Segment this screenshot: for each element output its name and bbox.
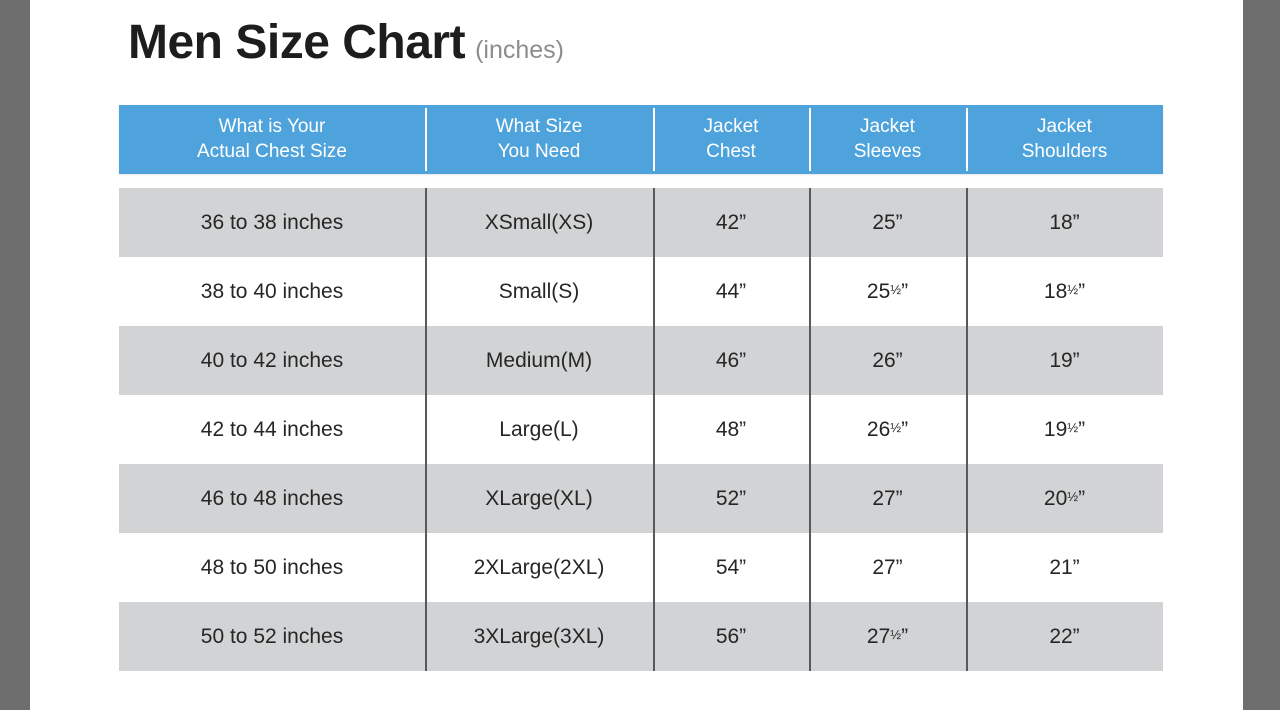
cell-size-you-need: 2XLarge(2XL) [425,533,653,602]
table-row: 36 to 38 inchesXSmall(XS)42”25”18” [119,188,1163,257]
cell-jacket-sleeves: 27” [809,464,966,533]
cell-value: 46 to 48 inches [201,487,343,511]
page-title: Men Size Chart (inches) [128,19,564,67]
cell-jacket-shoulders: 22” [966,602,1163,671]
cell-value: 40 to 42 inches [201,349,343,373]
cell-jacket-chest: 52” [653,464,809,533]
cell-size-you-need: Small(S) [425,257,653,326]
column-header-line2: Sleeves [854,140,922,164]
cell-value: 38 to 40 inches [201,280,343,304]
cell-jacket-shoulders: 19½” [966,395,1163,464]
cell-jacket-chest: 56” [653,602,809,671]
cell-value: 19” [1049,349,1079,373]
column-header-line2: Chest [706,140,756,164]
cell-value: Medium(M) [486,349,592,373]
cell-value: 18” [1049,211,1079,235]
cell-jacket-sleeves: 26” [809,326,966,395]
right-edge-band [1243,0,1280,710]
cell-jacket-sleeves: 27” [809,533,966,602]
column-header-line1: What is Your [219,115,326,139]
cell-size-you-need: XLarge(XL) [425,464,653,533]
half-fraction: ½ [890,627,901,642]
cell-jacket-chest: 46” [653,326,809,395]
table-row: 42 to 44 inchesLarge(L)48”26½”19½” [119,395,1163,464]
column-header-line1: Jacket [704,115,759,139]
cell-jacket-shoulders: 19” [966,326,1163,395]
size-chart-page: Men Size Chart (inches) What is Your Act… [0,0,1280,710]
cell-jacket-chest: 54” [653,533,809,602]
cell-jacket-shoulders: 20½” [966,464,1163,533]
cell-value: 36 to 38 inches [201,211,343,235]
cell-jacket-chest: 44” [653,257,809,326]
cell-value: 3XLarge(3XL) [474,625,605,649]
column-header-jacket-sleeves: Jacket Sleeves [809,105,966,174]
cell-jacket-sleeves: 25½” [809,257,966,326]
cell-value: Large(L) [499,418,578,442]
cell-value: 19½” [1044,418,1085,442]
column-header-size-you-need: What Size You Need [425,105,653,174]
column-header-line2: You Need [498,140,581,164]
table-row: 48 to 50 inches2XLarge(2XL)54”27”21” [119,533,1163,602]
cell-value: 27” [872,556,902,580]
table-row: 40 to 42 inchesMedium(M)46”26”19” [119,326,1163,395]
half-fraction: ½ [1067,420,1078,435]
cell-jacket-shoulders: 18” [966,188,1163,257]
cell-value: 52” [716,487,746,511]
cell-size-you-need: 3XLarge(3XL) [425,602,653,671]
cell-value: 44” [716,280,746,304]
cell-value: Small(S) [499,280,580,304]
cell-value: 25½” [867,280,908,304]
half-fraction: ½ [1067,282,1078,297]
cell-value: 26” [872,349,902,373]
size-chart-table: What is Your Actual Chest Size What Size… [119,105,1163,671]
cell-value: 27” [872,487,902,511]
column-header-line2: Actual Chest Size [197,140,347,164]
column-header-line1: Jacket [860,115,915,139]
cell-jacket-chest: 42” [653,188,809,257]
cell-jacket-shoulders: 21” [966,533,1163,602]
cell-actual-chest-size: 50 to 52 inches [119,602,425,671]
cell-actual-chest-size: 46 to 48 inches [119,464,425,533]
cell-value: 26½” [867,418,908,442]
cell-jacket-sleeves: 26½” [809,395,966,464]
cell-actual-chest-size: 40 to 42 inches [119,326,425,395]
table-row: 38 to 40 inchesSmall(S)44”25½”18½” [119,257,1163,326]
cell-value: 56” [716,625,746,649]
cell-jacket-shoulders: 18½” [966,257,1163,326]
left-edge-band [0,0,30,710]
chart-canvas: Men Size Chart (inches) What is Your Act… [30,0,1243,710]
column-header-line1: What Size [496,115,583,139]
cell-actual-chest-size: 38 to 40 inches [119,257,425,326]
cell-value: 20½” [1044,487,1085,511]
column-header-actual-chest-size: What is Your Actual Chest Size [119,105,425,174]
cell-value: 48 to 50 inches [201,556,343,580]
cell-value: XLarge(XL) [485,487,592,511]
cell-size-you-need: Medium(M) [425,326,653,395]
cell-value: 42” [716,211,746,235]
cell-value: 42 to 44 inches [201,418,343,442]
half-fraction: ½ [1067,489,1078,504]
cell-actual-chest-size: 42 to 44 inches [119,395,425,464]
table-row: 50 to 52 inches3XLarge(3XL)56”27½”22” [119,602,1163,671]
cell-value: 25” [872,211,902,235]
page-title-unit: (inches) [475,38,564,63]
page-title-main: Men Size Chart [128,19,465,67]
cell-value: 21” [1049,556,1079,580]
cell-value: 54” [716,556,746,580]
column-header-jacket-chest: Jacket Chest [653,105,809,174]
cell-size-you-need: Large(L) [425,395,653,464]
cell-value: 50 to 52 inches [201,625,343,649]
cell-value: 48” [716,418,746,442]
cell-value: 2XLarge(2XL) [474,556,605,580]
cell-value: 22” [1049,625,1079,649]
cell-actual-chest-size: 36 to 38 inches [119,188,425,257]
cell-actual-chest-size: 48 to 50 inches [119,533,425,602]
cell-value: XSmall(XS) [485,211,594,235]
column-header-line2: Shoulders [1022,140,1108,164]
cell-jacket-chest: 48” [653,395,809,464]
cell-jacket-sleeves: 25” [809,188,966,257]
cell-value: 46” [716,349,746,373]
table-header-row: What is Your Actual Chest Size What Size… [119,105,1163,174]
column-header-line1: Jacket [1037,115,1092,139]
cell-jacket-sleeves: 27½” [809,602,966,671]
cell-value: 27½” [867,625,908,649]
cell-size-you-need: XSmall(XS) [425,188,653,257]
table-body: 36 to 38 inchesXSmall(XS)42”25”18”38 to … [119,188,1163,671]
half-fraction: ½ [890,420,901,435]
half-fraction: ½ [890,282,901,297]
table-row: 46 to 48 inchesXLarge(XL)52”27”20½” [119,464,1163,533]
cell-value: 18½” [1044,280,1085,304]
column-header-jacket-shoulders: Jacket Shoulders [966,105,1163,174]
